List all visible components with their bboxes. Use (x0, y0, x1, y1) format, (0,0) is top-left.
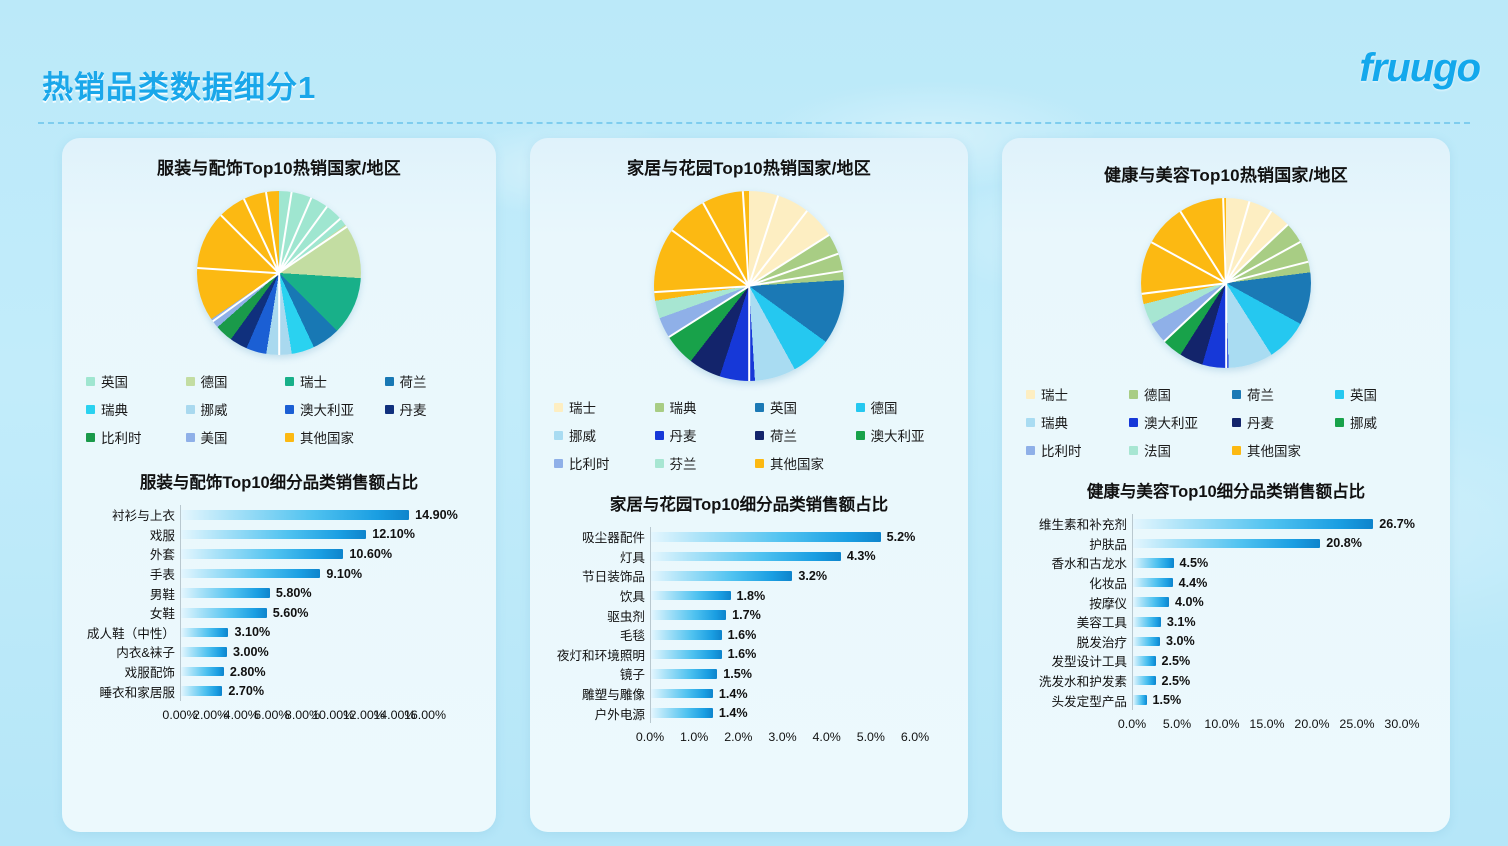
pie-slice-divider (668, 285, 749, 337)
bar-category-label: 戏服 (72, 525, 180, 544)
legend-swatch-icon (285, 433, 294, 442)
bar-category-label: 节日装饰品 (540, 566, 650, 585)
legend-item[interactable]: 英国 (749, 397, 850, 417)
fruugo-logo: fruugo (1359, 46, 1480, 91)
bar-track: 3.0% (1132, 632, 1436, 652)
pie-chart-apparel (197, 191, 361, 355)
bar-fill (1133, 676, 1156, 686)
bar-row: 节日装饰品3.2% (540, 566, 954, 586)
legend-label: 丹麦 (1247, 412, 1274, 432)
legend-label: 法国 (1144, 440, 1171, 460)
legend-swatch-icon (655, 431, 664, 440)
legend-item[interactable]: 澳大利亚 (1123, 412, 1226, 432)
legend-label: 芬兰 (670, 453, 697, 473)
legend-item[interactable]: 澳大利亚 (279, 399, 379, 419)
bar-fill (651, 571, 792, 581)
legend-label: 澳大利亚 (300, 399, 354, 419)
pie-slice-divider (703, 202, 750, 286)
legend-swatch-icon (554, 459, 563, 468)
bar-track: 14.90% (180, 505, 482, 525)
bar-category-label: 化妆品 (1012, 573, 1132, 592)
bar-chart-apparel: 衬衫与上衣14.90%戏服12.10%外套10.60%手表9.10%男鞋5.80… (62, 505, 496, 724)
legend-item[interactable]: 丹麦 (649, 425, 750, 445)
bar-fill (651, 552, 841, 562)
bar-row: 洗发水和护发素2.5% (1012, 671, 1436, 691)
legend-label: 澳大利亚 (871, 425, 925, 445)
pie-slice-divider (197, 267, 279, 274)
legend-swatch-icon (86, 405, 95, 414)
legend-item[interactable]: 荷兰 (379, 371, 479, 391)
bar-category-label: 戏服配饰 (72, 662, 180, 681)
bar-track: 1.8% (650, 586, 954, 606)
axis-tick-label: 20.0% (1294, 717, 1329, 731)
legend-label: 德国 (201, 371, 228, 391)
legend-swatch-icon (186, 405, 195, 414)
bar-row: 衬衫与上衣14.90% (72, 505, 482, 525)
bar-category-label: 吸尘器配件 (540, 527, 650, 546)
legend-swatch-icon (856, 431, 865, 440)
bar-value-label: 12.10% (372, 527, 415, 541)
legend-label: 丹麦 (400, 399, 427, 419)
bar-category-label: 洗发水和护发素 (1012, 671, 1132, 690)
legend-item[interactable]: 比利时 (1020, 440, 1123, 460)
legend-swatch-icon (755, 403, 764, 412)
legend-label: 瑞典 (101, 399, 128, 419)
bar-value-label: 1.5% (1153, 693, 1182, 707)
bar-track: 4.3% (650, 547, 954, 567)
bar-track: 26.7% (1132, 514, 1436, 534)
legend-item[interactable]: 其他国家 (1226, 440, 1329, 460)
pie-chart-home (654, 191, 844, 381)
bar-fill (1133, 539, 1320, 549)
bar-fill (651, 708, 713, 718)
bar-fill (1133, 656, 1156, 666)
bar-row: 饮具1.8% (540, 586, 954, 606)
legend-item[interactable]: 其他国家 (279, 427, 379, 447)
bar-value-label: 14.90% (415, 508, 458, 522)
bar-category-label: 脱发治疗 (1012, 632, 1132, 651)
bar-value-label: 2.5% (1162, 674, 1191, 688)
pie-slice-divider (1163, 282, 1226, 341)
legend-label: 其他国家 (770, 453, 824, 473)
bar-value-label: 1.4% (719, 687, 748, 701)
legend-swatch-icon (186, 433, 195, 442)
bar-category-label: 头发定型产品 (1012, 691, 1132, 710)
axis-tick-row: 0.0%5.0%10.0%15.0%20.0%25.0%30.0% (1132, 717, 1436, 733)
bar-category-label: 成人鞋（中性） (72, 623, 180, 642)
legend-swatch-icon (655, 459, 664, 468)
bar-row: 毛毯1.6% (540, 625, 954, 645)
bar-track: 3.10% (180, 623, 482, 643)
bar-title-health: 健康与美容Top10细分品类销售额占比 (1002, 478, 1450, 502)
bar-value-label: 2.80% (230, 665, 266, 679)
pie-legend-home: 瑞士瑞典英国德国挪威丹麦荷兰澳大利亚比利时芬兰其他国家 (530, 397, 968, 473)
bar-fill (1133, 578, 1173, 588)
legend-swatch-icon (1026, 418, 1035, 427)
legend-swatch-icon (86, 433, 95, 442)
panel-health: 健康与美容Top10热销国家/地区 瑞士德国荷兰英国瑞典澳大利亚丹麦挪威比利时法… (1002, 138, 1450, 832)
bar-track: 3.2% (650, 566, 954, 586)
legend-item[interactable]: 挪威 (1329, 412, 1432, 432)
pie-chart-home-wrap (530, 191, 968, 381)
legend-item[interactable]: 英国 (1329, 384, 1432, 404)
bar-row: 头发定型产品1.5% (1012, 690, 1436, 710)
panel-home: 家居与花园Top10热销国家/地区 瑞士瑞典英国德国挪威丹麦荷兰澳大利亚比利时芬… (530, 138, 968, 832)
legend-item[interactable]: 比利时 (80, 427, 180, 447)
bar-value-label: 4.5% (1180, 556, 1209, 570)
legend-item[interactable]: 挪威 (180, 399, 280, 419)
bar-track: 4.0% (1132, 592, 1436, 612)
bar-row: 户外电源1.4% (540, 703, 954, 723)
axis-tick-label: 0.0% (1118, 717, 1146, 731)
bar-value-label: 10.60% (349, 547, 392, 561)
bar-fill (1133, 695, 1147, 705)
bar-value-label: 3.2% (798, 569, 827, 583)
pie-slice-divider (1223, 198, 1227, 283)
pie-slice-divider (278, 273, 280, 355)
bar-fill (181, 530, 366, 540)
legend-item[interactable]: 其他国家 (749, 453, 850, 473)
bar-value-label: 3.1% (1167, 615, 1196, 629)
bar-fill (181, 549, 343, 559)
bar-value-label: 2.5% (1162, 654, 1191, 668)
pie-title-home: 家居与花园Top10热销国家/地区 (530, 154, 968, 179)
bar-value-label: 1.6% (728, 647, 757, 661)
bar-fill (181, 667, 224, 677)
panel-apparel: 服装与配饰Top10热销国家/地区 英国德国瑞士荷兰瑞典挪威澳大利亚丹麦比利时美… (62, 138, 496, 832)
bar-fill (651, 532, 881, 542)
axis-tick-label: 16.00% (404, 708, 446, 722)
legend-swatch-icon (385, 377, 394, 386)
bar-value-label: 3.10% (234, 625, 270, 639)
legend-swatch-icon (554, 403, 563, 412)
legend-item[interactable]: 丹麦 (379, 399, 479, 419)
bar-row: 发型设计工具2.5% (1012, 651, 1436, 671)
bar-x-axis: 0.0%1.0%2.0%3.0%4.0%5.0%6.0% (540, 730, 954, 746)
legend-item[interactable]: 德国 (850, 397, 951, 417)
bar-chart-health: 维生素和补充剂26.7%护肤品20.8%香水和古龙水4.5%化妆品4.4%按摩仪… (1002, 514, 1450, 733)
legend-label: 荷兰 (770, 425, 797, 445)
bar-fill (1133, 519, 1373, 529)
axis-tick-label: 5.0% (1163, 717, 1191, 731)
legend-label: 丹麦 (670, 425, 697, 445)
bar-x-axis: 0.00%2.00%4.00%6.00%8.00%10.00%12.00%14.… (72, 708, 482, 724)
bar-title-apparel: 服装与配饰Top10细分品类销售额占比 (62, 469, 496, 493)
bar-fill (1133, 617, 1161, 627)
bar-value-label: 3.0% (1166, 634, 1195, 648)
bar-value-label: 5.80% (276, 586, 312, 600)
legend-swatch-icon (856, 403, 865, 412)
bar-value-label: 4.4% (1179, 576, 1208, 590)
bar-fill (181, 588, 270, 598)
bar-fill (1133, 637, 1160, 647)
bar-fill (181, 608, 267, 618)
bar-track: 1.4% (650, 703, 954, 723)
legend-swatch-icon (1232, 446, 1241, 455)
axis-tick-label: 5.0% (857, 730, 885, 744)
bar-row: 镜子1.5% (540, 664, 954, 684)
legend-swatch-icon (1026, 390, 1035, 399)
bar-track: 2.5% (1132, 671, 1436, 691)
legend-swatch-icon (1026, 446, 1035, 455)
bar-value-label: 2.70% (228, 684, 264, 698)
axis-tick-label: 4.0% (813, 730, 841, 744)
legend-swatch-icon (1129, 418, 1138, 427)
bar-fill (651, 689, 713, 699)
legend-item[interactable]: 瑞典 (1020, 412, 1123, 432)
axis-tick-label: 25.0% (1339, 717, 1374, 731)
axis-tick-label: 10.0% (1204, 717, 1239, 731)
pie-chart-health-wrap (1002, 198, 1450, 368)
pie-slice-divider (749, 270, 843, 286)
pie-slice-divider (1180, 211, 1227, 284)
legend-item[interactable]: 法国 (1123, 440, 1226, 460)
bar-value-label: 3.00% (233, 645, 269, 659)
bar-track: 2.80% (180, 662, 482, 682)
bar-track: 10.60% (180, 544, 482, 564)
legend-swatch-icon (1129, 390, 1138, 399)
bar-category-label: 维生素和补充剂 (1012, 514, 1132, 533)
bar-row: 化妆品4.4% (1012, 573, 1436, 593)
legend-item[interactable]: 荷兰 (1226, 384, 1329, 404)
legend-label: 瑞士 (1041, 384, 1068, 404)
bar-track: 1.6% (650, 645, 954, 665)
legend-swatch-icon (186, 377, 195, 386)
legend-item[interactable]: 英国 (80, 371, 180, 391)
bar-track: 3.1% (1132, 612, 1436, 632)
bar-track: 2.70% (180, 681, 482, 701)
legend-label: 德国 (871, 397, 898, 417)
bar-row: 睡衣和家居服2.70% (72, 681, 482, 701)
bar-category-label: 毛毯 (540, 625, 650, 644)
bar-value-label: 26.7% (1379, 517, 1415, 531)
page-title: 热销品类数据细分1 (42, 62, 316, 107)
bar-row: 戏服配饰2.80% (72, 662, 482, 682)
bar-value-label: 5.2% (887, 530, 916, 544)
legend-item[interactable]: 芬兰 (649, 453, 750, 473)
bar-value-label: 1.7% (732, 608, 761, 622)
axis-tick-label: 30.0% (1384, 717, 1419, 731)
page-header: 热销品类数据细分1 fruugo (0, 0, 1508, 128)
legend-swatch-icon (1335, 418, 1344, 427)
legend-label: 美国 (201, 427, 228, 447)
bar-track: 9.10% (180, 564, 482, 584)
bar-category-label: 男鞋 (72, 584, 180, 603)
legend-swatch-icon (285, 377, 294, 386)
legend-item[interactable]: 美国 (180, 427, 280, 447)
pie-slice-divider (1151, 241, 1226, 283)
bar-fill (651, 591, 731, 601)
bar-fill (1133, 597, 1169, 607)
pie-slice-divider (243, 198, 279, 273)
pie-slice-divider (672, 230, 750, 287)
bar-category-label: 手表 (72, 564, 180, 583)
bar-row: 香水和古龙水4.5% (1012, 553, 1436, 573)
bar-category-label: 雕塑与雕像 (540, 684, 650, 703)
pie-legend-apparel: 英国德国瑞士荷兰瑞典挪威澳大利亚丹麦比利时美国其他国家 (62, 371, 496, 447)
bar-fill (651, 650, 722, 660)
legend-swatch-icon (655, 403, 664, 412)
bar-row: 按摩仪4.0% (1012, 592, 1436, 612)
legend-item[interactable]: 瑞士 (1020, 384, 1123, 404)
legend-label: 英国 (101, 371, 128, 391)
axis-tick-label: 2.0% (724, 730, 752, 744)
bar-value-label: 4.3% (847, 549, 876, 563)
bar-fill (651, 630, 722, 640)
legend-swatch-icon (385, 405, 394, 414)
bar-track: 1.4% (650, 684, 954, 704)
bar-value-label: 20.8% (1326, 536, 1362, 550)
bar-chart-home: 吸尘器配件5.2%灯具4.3%节日装饰品3.2%饮具1.8%驱虫剂1.7%毛毯1… (530, 527, 968, 746)
bar-track: 2.5% (1132, 651, 1436, 671)
bar-track: 20.8% (1132, 534, 1436, 554)
bar-category-label: 驱虫剂 (540, 606, 650, 625)
bar-x-axis: 0.0%5.0%10.0%15.0%20.0%25.0%30.0% (1012, 717, 1436, 733)
legend-label: 其他国家 (1247, 440, 1301, 460)
pie-slice-divider (742, 191, 750, 286)
bar-row: 驱虫剂1.7% (540, 605, 954, 625)
bar-track: 1.5% (1132, 690, 1436, 710)
bar-category-label: 香水和古龙水 (1012, 553, 1132, 572)
bar-row: 女鞋5.60% (72, 603, 482, 623)
axis-tick-label: 3.0% (768, 730, 796, 744)
bar-value-label: 1.5% (723, 667, 752, 681)
pie-slice-divider (212, 272, 279, 321)
bar-row: 男鞋5.80% (72, 583, 482, 603)
axis-spacer (540, 730, 650, 746)
legend-label: 澳大利亚 (1144, 412, 1198, 432)
bar-fill (181, 510, 409, 520)
legend-label: 英国 (1350, 384, 1377, 404)
pie-chart-health (1141, 198, 1311, 368)
bar-title-home: 家居与花园Top10细分品类销售额占比 (530, 491, 968, 515)
bar-fill (181, 686, 222, 696)
pie-legend-health: 瑞士德国荷兰英国瑞典澳大利亚丹麦挪威比利时法国其他国家 (1002, 384, 1450, 460)
bar-row: 成人鞋（中性）3.10% (72, 623, 482, 643)
legend-item[interactable]: 挪威 (548, 425, 649, 445)
legend-swatch-icon (755, 459, 764, 468)
legend-label: 瑞士 (300, 371, 327, 391)
bar-row: 内衣&袜子3.00% (72, 642, 482, 662)
bar-track: 12.10% (180, 525, 482, 545)
bar-row: 护肤品20.8% (1012, 534, 1436, 554)
axis-tick-row: 0.0%1.0%2.0%3.0%4.0%5.0%6.0% (650, 730, 954, 746)
legend-swatch-icon (86, 377, 95, 386)
bar-track: 1.6% (650, 625, 954, 645)
bar-fill (181, 647, 227, 657)
bar-category-label: 女鞋 (72, 603, 180, 622)
legend-item[interactable]: 荷兰 (749, 425, 850, 445)
legend-label: 瑞典 (1041, 412, 1068, 432)
legend-item[interactable]: 德国 (180, 371, 280, 391)
bar-value-label: 9.10% (326, 567, 362, 581)
bar-track: 5.80% (180, 583, 482, 603)
legend-label: 瑞典 (670, 397, 697, 417)
bar-category-label: 美容工具 (1012, 612, 1132, 631)
pie-chart-apparel-wrap (62, 191, 496, 355)
bar-category-label: 灯具 (540, 547, 650, 566)
bar-value-label: 5.60% (273, 606, 309, 620)
bar-fill (651, 610, 726, 620)
legend-item[interactable]: 澳大利亚 (850, 425, 951, 445)
legend-label: 比利时 (1041, 440, 1082, 460)
legend-item[interactable]: 瑞典 (649, 397, 750, 417)
legend-item[interactable]: 比利时 (548, 453, 649, 473)
bar-category-label: 夜灯和环境照明 (540, 645, 650, 664)
axis-tick-label: 0.0% (636, 730, 664, 744)
bar-value-label: 1.4% (719, 706, 748, 720)
legend-swatch-icon (1335, 390, 1344, 399)
bar-row: 外套10.60% (72, 544, 482, 564)
pie-slice-divider (748, 286, 750, 381)
axis-tick-label: 6.0% (901, 730, 929, 744)
bar-fill (181, 569, 320, 579)
legend-label: 荷兰 (400, 371, 427, 391)
bar-row: 夜灯和环境照明1.6% (540, 645, 954, 665)
legend-swatch-icon (1232, 390, 1241, 399)
legend-item[interactable]: 瑞典 (80, 399, 180, 419)
bar-track: 1.5% (650, 664, 954, 684)
header-divider (38, 122, 1470, 124)
legend-label: 其他国家 (300, 427, 354, 447)
legend-label: 瑞士 (569, 397, 596, 417)
bar-category-label: 镜子 (540, 664, 650, 683)
legend-swatch-icon (1129, 446, 1138, 455)
pie-title-health: 健康与美容Top10热销国家/地区 (1002, 161, 1450, 186)
bar-category-label: 内衣&袜子 (72, 642, 180, 661)
pie-title-apparel: 服装与配饰Top10热销国家/地区 (62, 154, 496, 179)
bar-fill (651, 669, 717, 679)
legend-swatch-icon (755, 431, 764, 440)
legend-label: 挪威 (201, 399, 228, 419)
pie-slice-divider (654, 285, 749, 293)
legend-label: 比利时 (101, 427, 142, 447)
legend-item[interactable]: 瑞士 (548, 397, 649, 417)
legend-item[interactable]: 丹麦 (1226, 412, 1329, 432)
legend-swatch-icon (1232, 418, 1241, 427)
bar-row: 美容工具3.1% (1012, 612, 1436, 632)
bar-row: 雕塑与雕像1.4% (540, 684, 954, 704)
bar-fill (181, 628, 228, 638)
bar-category-label: 睡衣和家居服 (72, 682, 180, 701)
bar-category-label: 发型设计工具 (1012, 651, 1132, 670)
bar-value-label: 1.6% (728, 628, 757, 642)
bar-category-label: 衬衫与上衣 (72, 505, 180, 524)
axis-tick-label: 1.0% (680, 730, 708, 744)
axis-tick-label: 15.0% (1249, 717, 1284, 731)
bar-row: 维生素和补充剂26.7% (1012, 514, 1436, 534)
pie-slice-divider (748, 195, 779, 286)
bar-track: 4.5% (1132, 553, 1436, 573)
bar-row: 吸尘器配件5.2% (540, 527, 954, 547)
bar-category-label: 外套 (72, 544, 180, 563)
legend-item[interactable]: 瑞士 (279, 371, 379, 391)
bar-track: 4.4% (1132, 573, 1436, 593)
bar-row: 灯具4.3% (540, 547, 954, 567)
bar-value-label: 1.8% (737, 589, 766, 603)
legend-label: 荷兰 (1247, 384, 1274, 404)
bar-category-label: 按摩仪 (1012, 593, 1132, 612)
bar-row: 脱发治疗3.0% (1012, 632, 1436, 652)
bar-category-label: 护肤品 (1012, 534, 1132, 553)
axis-tick-row: 0.00%2.00%4.00%6.00%8.00%10.00%12.00%14.… (180, 708, 482, 724)
legend-label: 比利时 (569, 453, 610, 473)
legend-label: 德国 (1144, 384, 1171, 404)
bar-track: 3.00% (180, 642, 482, 662)
bar-row: 手表9.10% (72, 564, 482, 584)
legend-item[interactable]: 德国 (1123, 384, 1226, 404)
axis-spacer (1012, 717, 1132, 733)
